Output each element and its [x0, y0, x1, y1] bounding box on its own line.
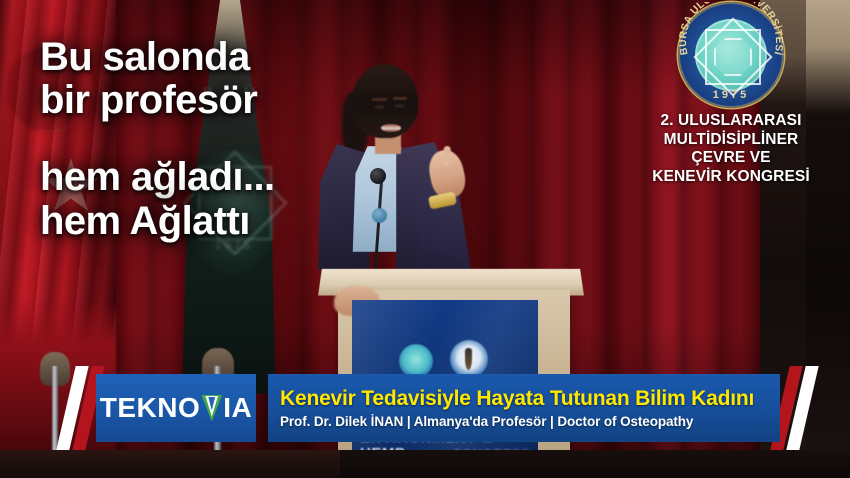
headline-line-4: hem Ağlattı [40, 200, 370, 243]
teknovia-wordmark: TEKNO IA [96, 374, 256, 442]
headline-overlay: Bu salonda bir profesör hem ağladı... he… [40, 36, 370, 243]
headline-line-3: hem ağladı... [40, 156, 370, 199]
speaker-eyebrow-left [372, 98, 387, 101]
footer-strip-left [0, 450, 340, 478]
congress-branding: BURSA ULUDAĞ ÜNİVERSİTESİ 1975 2. ULUSLA… [624, 2, 838, 186]
speaker-eye-right [394, 104, 405, 108]
speaker-eye-left [374, 105, 385, 109]
speaker-eyebrow-right [393, 97, 407, 100]
speaker-mouth [381, 124, 401, 132]
svg-text:BURSA ULUDAĞ ÜNİVERSİTESİ: BURSA ULUDAĞ ÜNİVERSİTESİ [678, 2, 784, 57]
headline-spacer [40, 122, 370, 156]
congress-line-1: 2. ULUSLARARASI [624, 112, 838, 131]
university-logo: BURSA ULUDAĞ ÜNİVERSİTESİ 1975 [678, 2, 784, 108]
banner-headline: Kenevir Tedavisiyle Hayata Tutunan Bilim… [280, 387, 780, 410]
teknovia-logo-box[interactable]: TEKNO IA [96, 374, 256, 442]
congress-line-3: ÇEVRE VE [624, 149, 838, 168]
headline-line-1: Bu salonda [40, 36, 370, 79]
headline-line-2: bir profesör [40, 79, 370, 122]
banner-title-box: Kenevir Tedavisiyle Hayata Tutunan Bilim… [268, 374, 780, 442]
congress-line-4: KENEVİR KONGRESİ [624, 168, 838, 187]
teknovia-text-part2: IA [223, 392, 252, 424]
congress-title-lines: 2. ULUSLARARASI MULTİDİSİPLİNER ÇEVRE VE… [624, 112, 838, 186]
microphone-icon [370, 168, 386, 184]
university-logo-arc-label: BURSA ULUDAĞ ÜNİVERSİTESİ [678, 2, 784, 57]
video-thumbnail: B.U.Ü. 1975 ENVIRON [0, 0, 850, 478]
teknovia-v-icon [201, 395, 222, 422]
university-logo-year: 1975 [678, 89, 784, 101]
lapel-microphone-icon [372, 208, 387, 223]
lower-third-banner: TEKNO IA Kenevir Tedavisiyle Hayata Tutu… [0, 366, 850, 450]
banner-subtitle: Prof. Dr. Dilek İNAN | Almanya'da Profes… [280, 414, 780, 429]
teknovia-text-part1: TEKNO [100, 392, 201, 424]
congress-line-2: MULTİDİSİPLİNER [624, 131, 838, 150]
